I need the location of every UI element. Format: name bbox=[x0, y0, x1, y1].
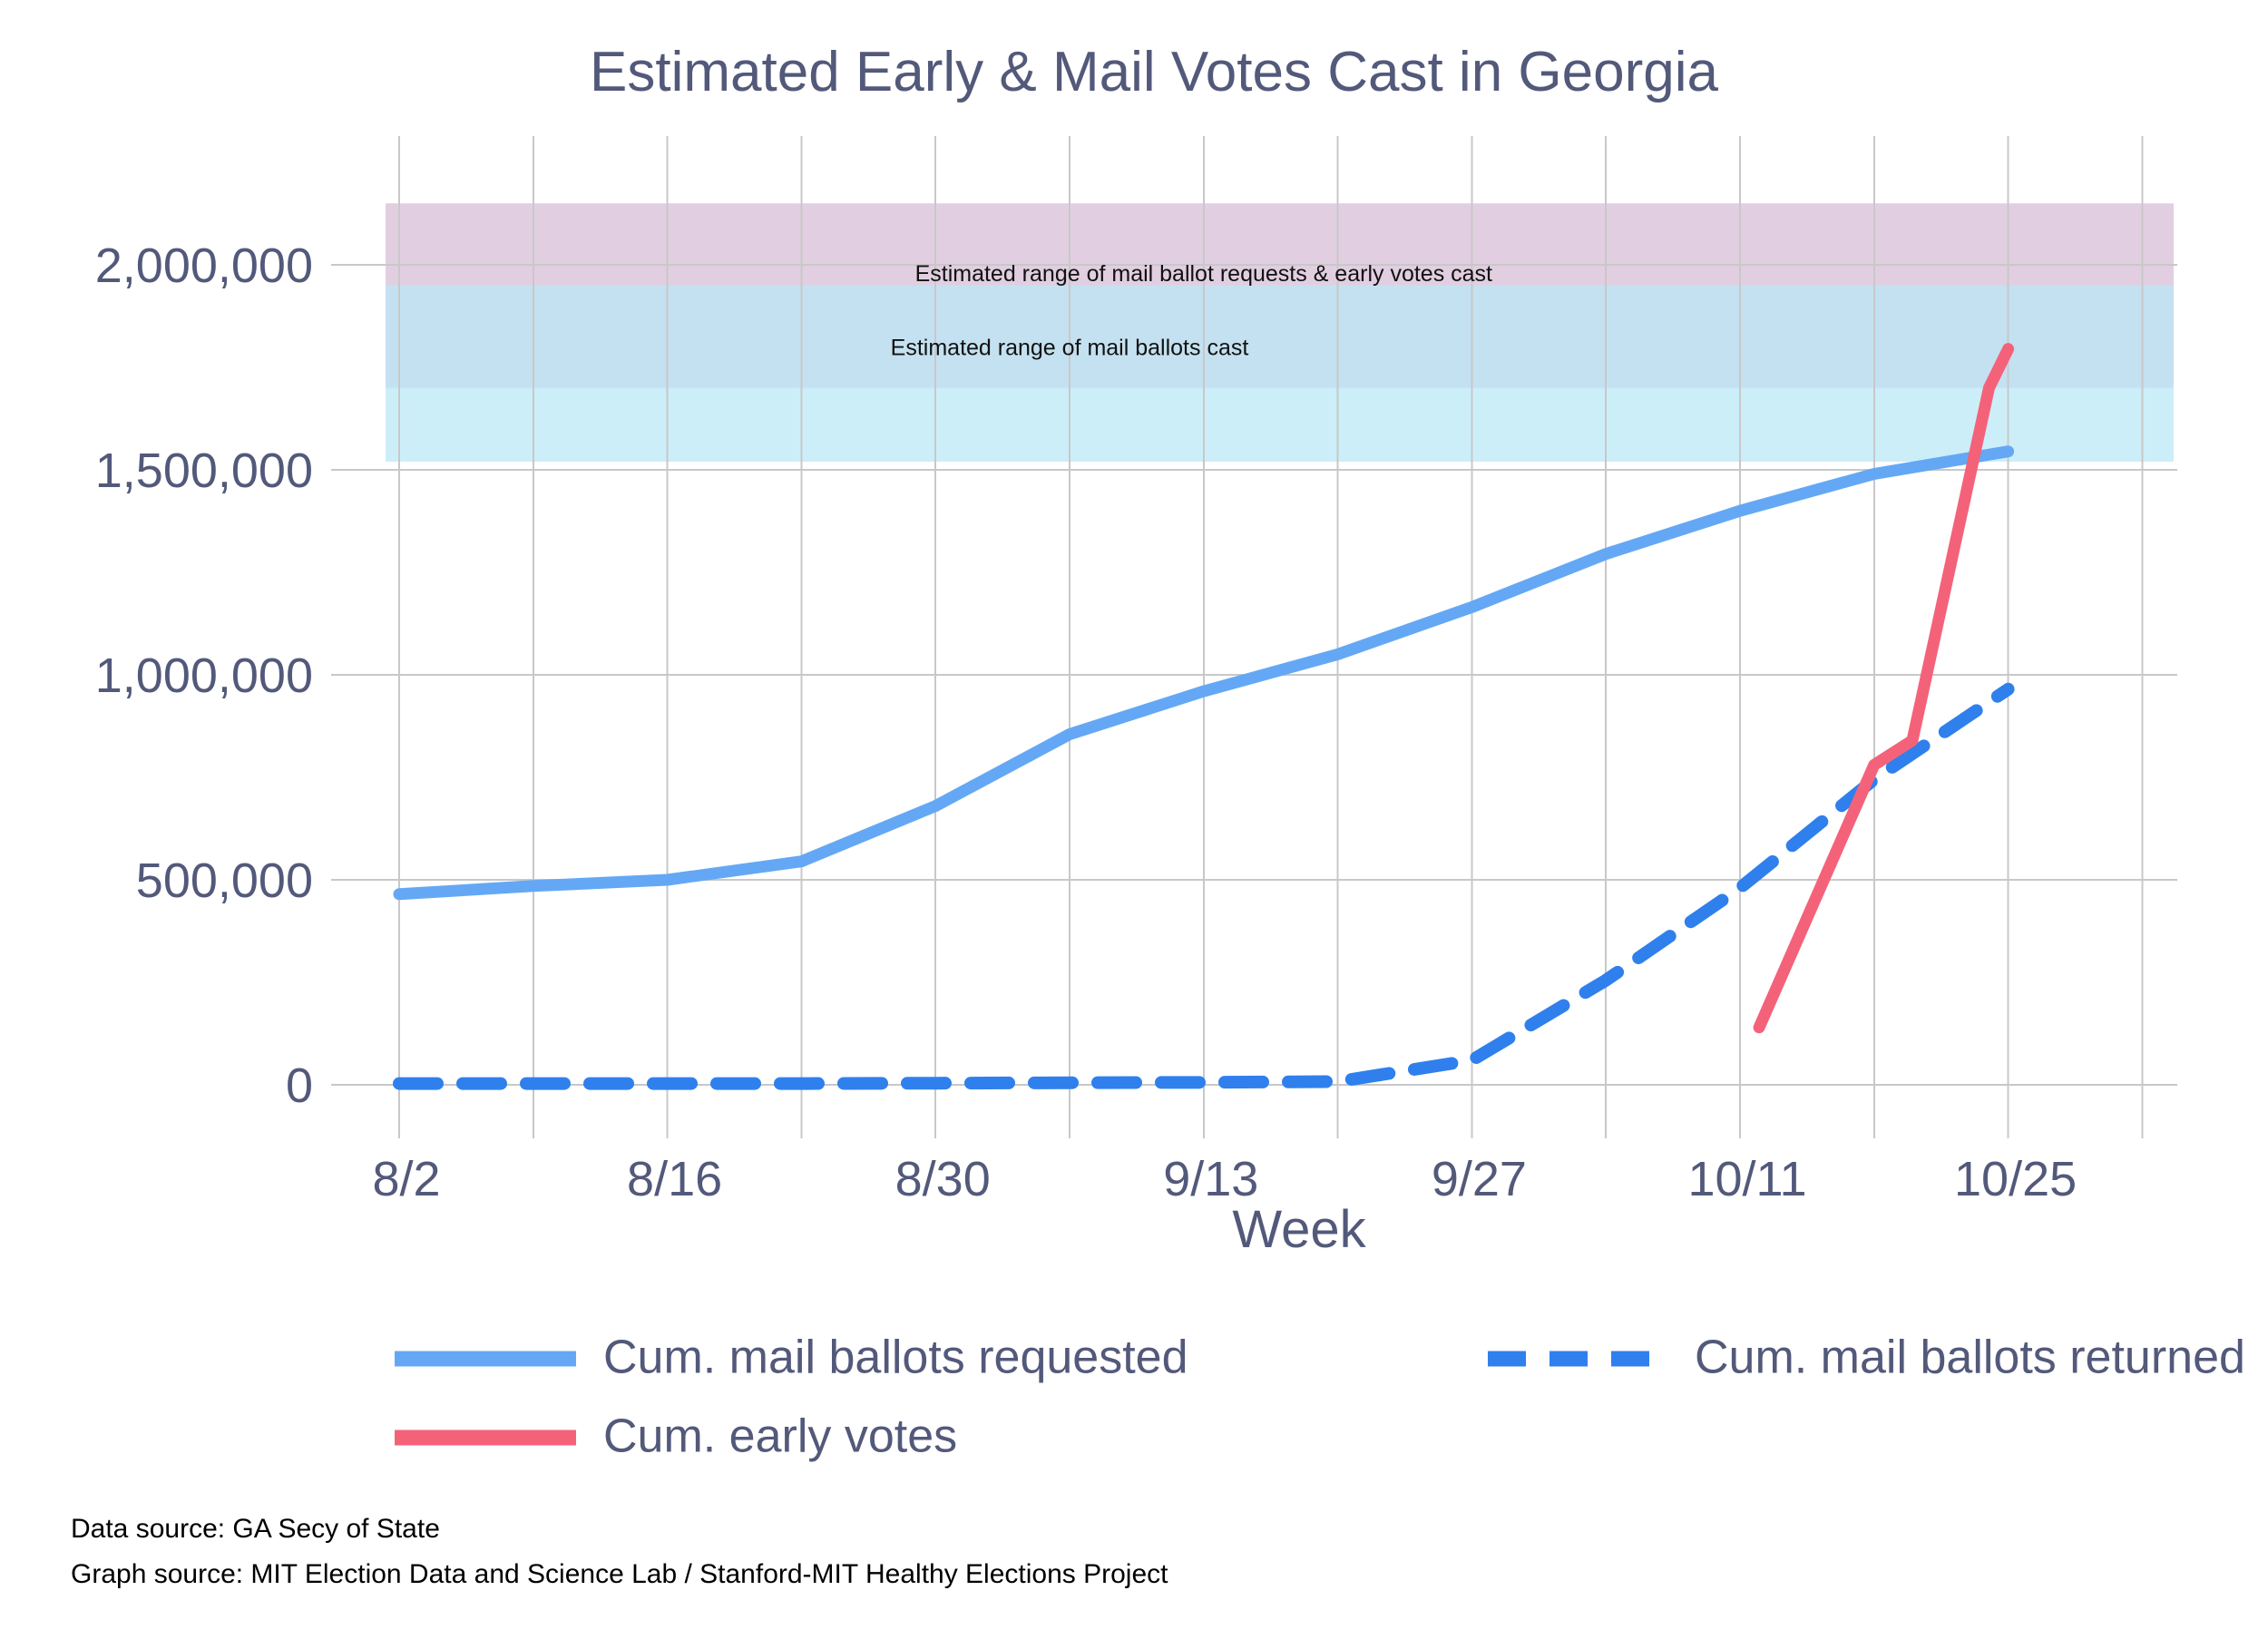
y-axis-tick-label: 2,000,000 bbox=[95, 239, 313, 293]
x-axis-tick-label: 8/30 bbox=[895, 1152, 991, 1206]
legend-label-2[interactable]: Cum. mail ballots returned bbox=[1695, 1332, 2245, 1384]
chart-title: Estimated Early & Mail Votes Cast in Geo… bbox=[590, 41, 1718, 103]
estimate-bands bbox=[386, 203, 2174, 462]
x-axis-tick-label: 10/11 bbox=[1687, 1152, 1806, 1206]
footer-graph-source: Graph source: MIT Election Data and Scie… bbox=[71, 1559, 1168, 1589]
x-axis-title: Week bbox=[1232, 1200, 1366, 1259]
legend-label-3[interactable]: Cum. early votes bbox=[603, 1410, 957, 1463]
y-axis-tick-label: 500,000 bbox=[136, 854, 313, 908]
y-axis-tick-label: 1,000,000 bbox=[95, 649, 313, 703]
x-axis-tick-label: 8/16 bbox=[627, 1152, 722, 1206]
chart-figure: Estimated Early & Mail Votes Cast in Geo… bbox=[0, 0, 2268, 1649]
x-axis-tick-label: 9/13 bbox=[1163, 1152, 1258, 1206]
footer-data-source: Data source: GA Secy of State bbox=[71, 1514, 440, 1544]
y-axis-tick-label: 0 bbox=[286, 1059, 313, 1113]
x-axis-tick-label: 9/27 bbox=[1432, 1152, 1527, 1206]
band-annotation-1: Estimated range of mail ballot requests … bbox=[915, 261, 1492, 287]
x-axis-tick-label: 8/2 bbox=[372, 1152, 440, 1206]
estimate-band-2 bbox=[386, 286, 2174, 462]
x-axis-tick-label: 10/25 bbox=[1954, 1152, 2077, 1206]
band-annotation-2: Estimated range of mail ballots cast bbox=[891, 335, 1249, 360]
y-axis-tick-label: 1,500,000 bbox=[95, 444, 313, 498]
chart-canvas: Estimated Early & Mail Votes Cast in Geo… bbox=[0, 0, 2268, 1649]
legend-label-1[interactable]: Cum. mail ballots requested bbox=[603, 1332, 1188, 1384]
